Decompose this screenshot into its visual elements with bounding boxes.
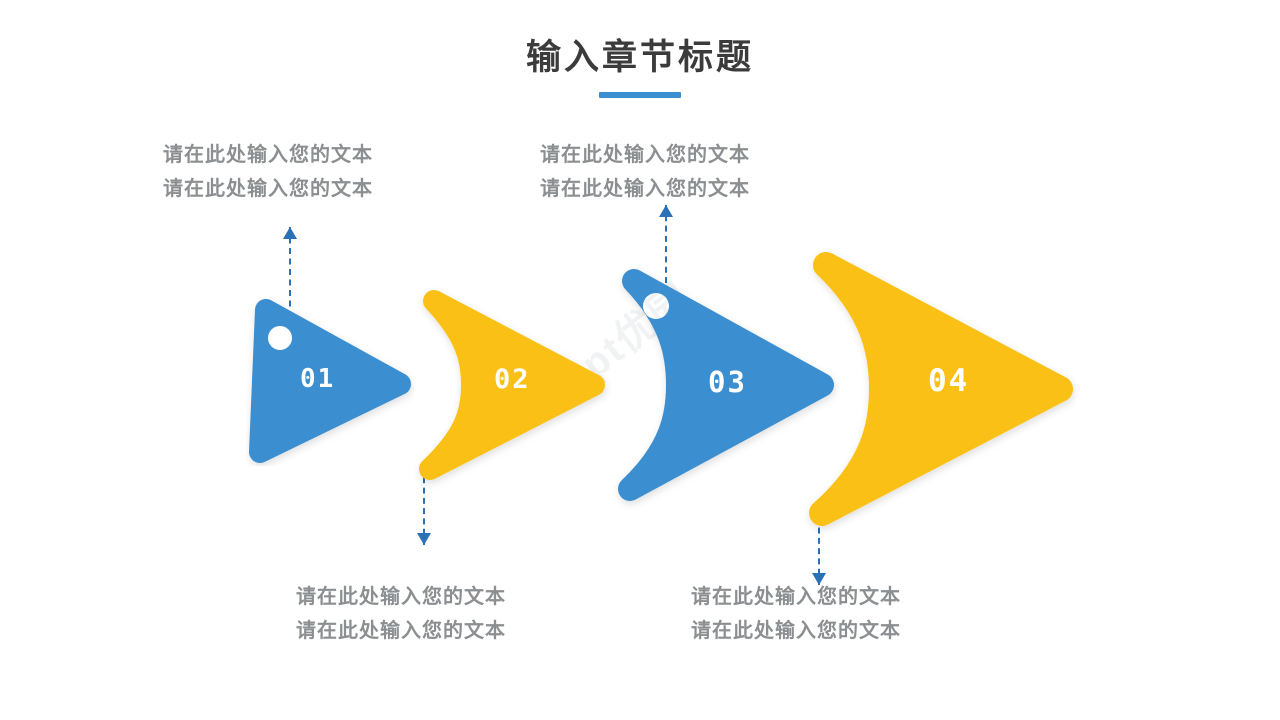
step-text-02-line-2: 请在此处输入您的文本 bbox=[296, 614, 506, 648]
step-text-02: 请在此处输入您的文本 请在此处输入您的文本 bbox=[296, 580, 506, 649]
step-text-03-line-1: 请在此处输入您的文本 bbox=[540, 138, 750, 172]
step-text-01-line-1: 请在此处输入您的文本 bbox=[163, 138, 373, 172]
step-text-03-line-2: 请在此处输入您的文本 bbox=[540, 172, 750, 206]
step-shape-02[interactable]: 02 bbox=[404, 285, 609, 485]
title-underline bbox=[599, 92, 681, 98]
step-text-04-line-1: 请在此处输入您的文本 bbox=[691, 580, 901, 614]
step-text-02-line-1: 请在此处输入您的文本 bbox=[296, 580, 506, 614]
step-number-01: 01 bbox=[300, 364, 335, 394]
step-text-03: 请在此处输入您的文本 请在此处输入您的文本 bbox=[540, 138, 750, 207]
step-text-01-line-2: 请在此处输入您的文本 bbox=[163, 172, 373, 206]
step-number-03: 03 bbox=[708, 365, 747, 399]
step-text-04-line-2: 请在此处输入您的文本 bbox=[691, 614, 901, 648]
title-block: 输入章节标题 bbox=[0, 36, 1280, 98]
step-shape-04[interactable]: 04 bbox=[788, 245, 1084, 535]
slide-canvas: 输入章节标题 ppt优园 请在此处输入您的文本 请在此处输入您的文本 请在此处输… bbox=[0, 0, 1280, 720]
step-shape-01[interactable]: 01 bbox=[238, 300, 410, 465]
step-text-01: 请在此处输入您的文本 请在此处输入您的文本 bbox=[163, 138, 373, 207]
arrow-up-icon bbox=[283, 227, 297, 239]
step-number-02: 02 bbox=[494, 364, 531, 395]
page-title: 输入章节标题 bbox=[0, 36, 1280, 80]
arrow-down-icon bbox=[417, 533, 431, 545]
step-text-04: 请在此处输入您的文本 请在此处输入您的文本 bbox=[691, 580, 901, 649]
step-number-04: 04 bbox=[928, 363, 969, 399]
arrow-down-icon bbox=[812, 573, 826, 585]
arrow-up-icon bbox=[659, 205, 673, 217]
